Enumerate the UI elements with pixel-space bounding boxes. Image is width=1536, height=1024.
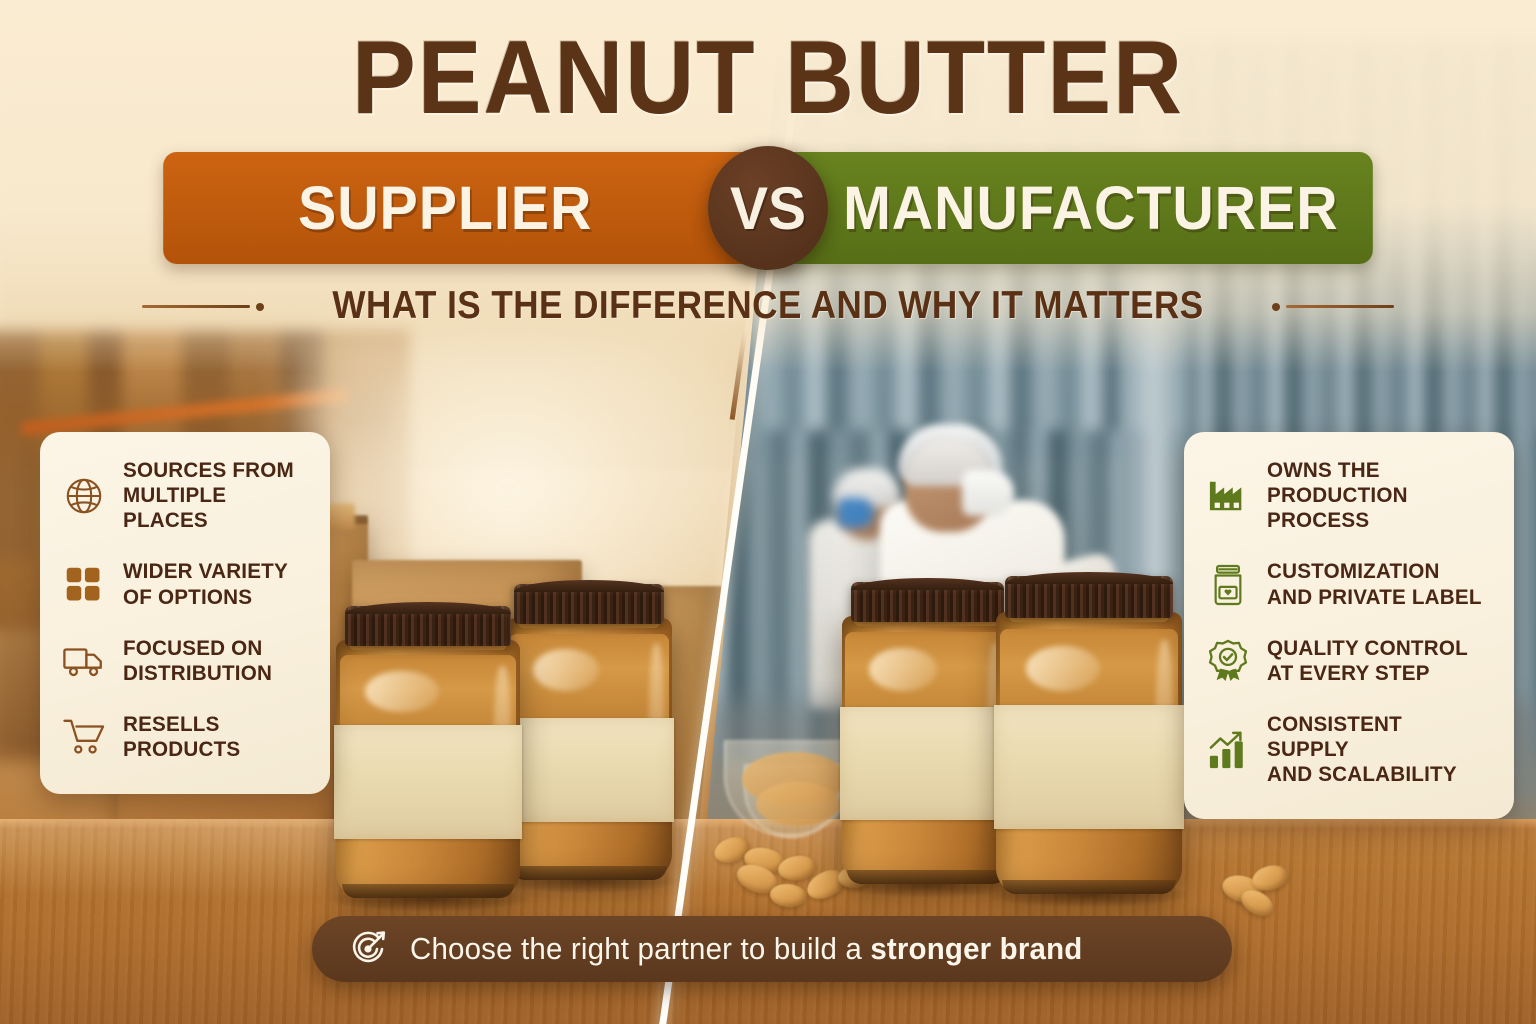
jar-blank-label: [334, 725, 522, 839]
manufacturer-feature-row[interactable]: QUALITY CONTROL AT EVERY STEP: [1206, 636, 1492, 686]
peanut-pile-in-bowl-2: [756, 782, 840, 826]
manufacturer-feature-label: CONSISTENT SUPPLY AND SCALABILITY: [1267, 712, 1483, 787]
shopping-cart-icon: [62, 715, 106, 759]
jar-highlight: [1026, 646, 1100, 691]
manufacturer-banner[interactable]: MANUFACTURER: [741, 152, 1373, 264]
jar-highlight: [365, 671, 439, 712]
supplier-feature-label: FOCUSED ON DISTRIBUTION: [123, 636, 272, 686]
cta-text-bold: stronger brand: [870, 931, 1082, 966]
supplier-feature-card: SOURCES FROM MULTIPLE PLACES WIDER VARIE…: [40, 432, 330, 794]
manufacturer-feature-label: QUALITY CONTROL AT EVERY STEP: [1267, 636, 1468, 686]
subtitle: WHAT IS THE DIFFERENCE AND WHY IT MATTER…: [332, 284, 1203, 328]
cta-text-normal: Choose the right partner to build a: [410, 931, 870, 966]
vs-badge: VS: [708, 146, 828, 270]
peanut-butter-jar-left-front: [336, 640, 520, 898]
target-arrow-icon: [346, 927, 390, 971]
peanut-butter-jar-left-back: [506, 618, 672, 880]
jar-base: [847, 870, 1007, 884]
quality-badge-icon: [1206, 639, 1250, 683]
peanut-butter-jar-right-back: [842, 616, 1012, 884]
supplier-feature-label: RESELLS PRODUCTS: [123, 712, 301, 762]
manufacturer-feature-label: CUSTOMIZATION AND PRIVATE LABEL: [1267, 559, 1482, 609]
subtitle-rule-left: [142, 303, 264, 309]
growth-chart-icon: [1206, 728, 1250, 772]
delivery-truck-icon: [62, 639, 106, 683]
supplier-feature-label: SOURCES FROM MULTIPLE PLACES: [123, 458, 301, 533]
page-title: PEANUT BUTTER: [61, 26, 1474, 130]
jar-blank-label: [840, 707, 1013, 820]
manufacturer-feature-row[interactable]: CONSISTENT SUPPLY AND SCALABILITY: [1206, 712, 1492, 787]
manufacturer-feature-card: OWNS THE PRODUCTION PROCESS CUSTOMIZATIO…: [1184, 432, 1514, 819]
manufacturer-feature-row[interactable]: CUSTOMIZATION AND PRIVATE LABEL: [1206, 559, 1492, 609]
jar-icon: [1206, 563, 1250, 607]
jar-base: [511, 866, 667, 880]
vs-badge-label: VS: [730, 174, 806, 243]
cta-text: Choose the right partner to build a stro…: [410, 931, 1082, 967]
cta-banner[interactable]: Choose the right partner to build a stro…: [312, 916, 1232, 982]
globe-icon: [62, 474, 106, 518]
jar-base: [1002, 880, 1177, 894]
supplier-feature-label: WIDER VARIETY OF OPTIONS: [123, 559, 288, 609]
supplier-feature-row[interactable]: FOCUSED ON DISTRIBUTION: [62, 636, 308, 686]
supplier-feature-row[interactable]: RESELLS PRODUCTS: [62, 712, 308, 762]
subtitle-rule-right: [1272, 303, 1394, 309]
manufacturer-feature-label: OWNS THE PRODUCTION PROCESS: [1267, 458, 1483, 533]
subtitle-row: WHAT IS THE DIFFERENCE AND WHY IT MATTER…: [0, 284, 1536, 328]
supplier-feature-row[interactable]: WIDER VARIETY OF OPTIONS: [62, 559, 308, 609]
header: PEANUT BUTTER SUPPLIER MANUFACTURER VS W…: [0, 0, 1536, 328]
jar-blank-label: [994, 705, 1184, 829]
jar-base: [342, 884, 515, 898]
factory-worker-background-mask: [838, 498, 874, 528]
supplier-banner[interactable]: SUPPLIER: [163, 152, 795, 264]
grid-squares-icon: [62, 563, 106, 607]
manufacturer-feature-row[interactable]: OWNS THE PRODUCTION PROCESS: [1206, 458, 1492, 533]
jar-highlight: [533, 649, 599, 691]
comparison-banner-row: SUPPLIER MANUFACTURER VS: [143, 152, 1393, 264]
supplier-banner-label: SUPPLIER: [298, 173, 592, 243]
peanut-butter-jar-right-front: [996, 612, 1182, 894]
factory-icon: [1206, 474, 1250, 518]
manufacturer-banner-label: MANUFACTURER: [843, 173, 1338, 243]
jar-highlight: [869, 648, 937, 691]
jar-blank-label: [504, 718, 673, 823]
factory-worker-foreground-mask: [962, 470, 1014, 516]
supplier-feature-row[interactable]: SOURCES FROM MULTIPLE PLACES: [62, 458, 308, 533]
infographic-canvas: PEANUT BUTTER SUPPLIER MANUFACTURER VS W…: [0, 0, 1536, 1024]
